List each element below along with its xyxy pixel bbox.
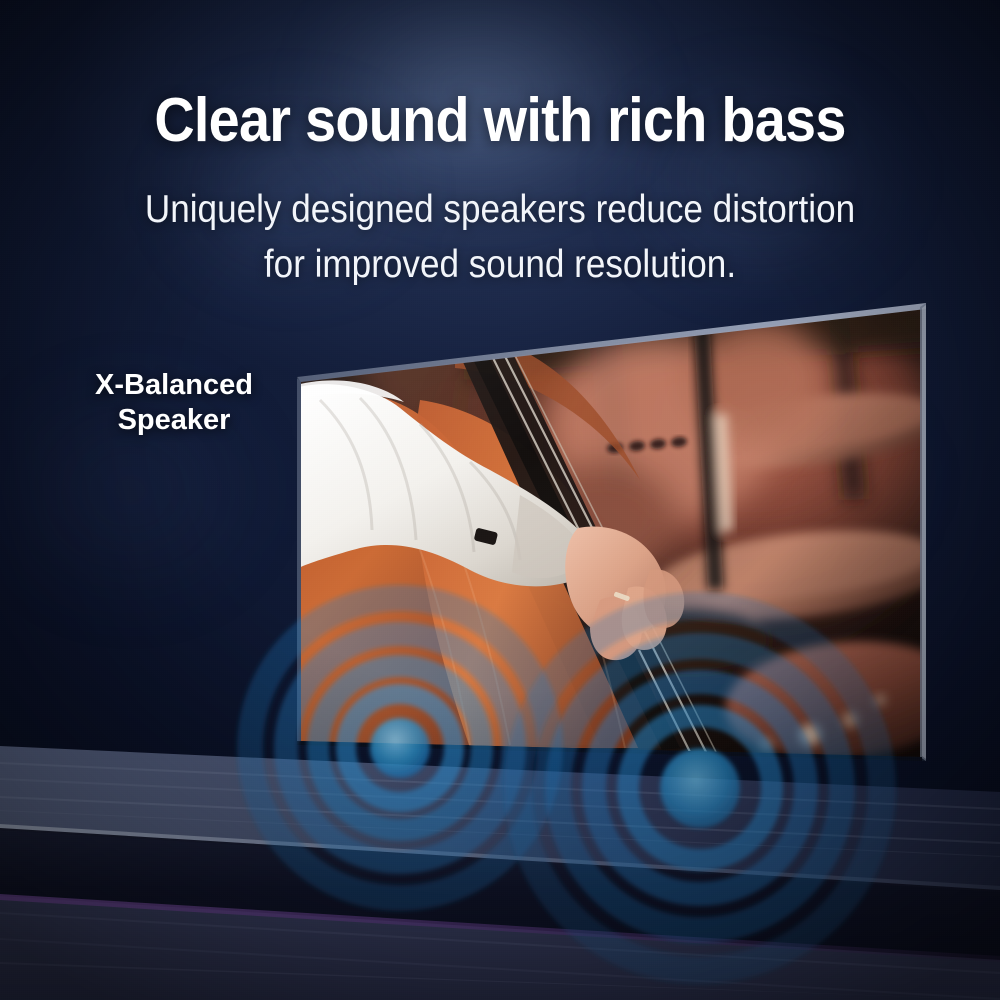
page-title: Clear sound with rich bass <box>50 88 950 153</box>
subheading-line-2: for improved sound resolution. <box>95 237 905 292</box>
promo-banner: Clear sound with rich bass Uniquely desi… <box>0 0 1000 1000</box>
feature-label-line-2: Speaker <box>68 403 280 438</box>
subheading-line-1: Uniquely designed speakers reduce distor… <box>95 182 905 237</box>
subheading: Uniquely designed speakers reduce distor… <box>95 182 905 293</box>
feature-label-x-balanced-speaker: X-Balanced Speaker <box>68 368 280 439</box>
feature-label-line-1: X-Balanced <box>68 368 280 403</box>
